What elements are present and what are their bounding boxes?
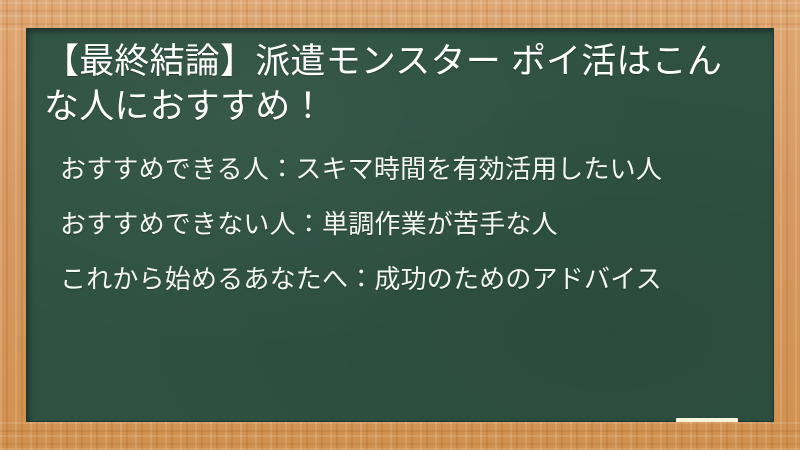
chalkboard-slide: 【最終結論】派遣モンスター ポイ活はこんな人におすすめ！ おすすめできる人：スキ… (0, 0, 800, 450)
bullet-item-3: これから始めるあなたへ：成功のためのアドバイス (44, 262, 756, 297)
bullet-item-1: おすすめできる人：スキマ時間を有効活用したい人 (44, 152, 756, 187)
bullet-item-2: おすすめできない人：単調作業が苦手な人 (44, 207, 756, 242)
slide-title: 【最終結論】派遣モンスター ポイ活はこんな人におすすめ！ (44, 40, 756, 130)
chalk-stick-icon (676, 418, 738, 422)
frame-bottom-rail (0, 422, 800, 450)
chalkboard-surface: 【最終結論】派遣モンスター ポイ活はこんな人におすすめ！ おすすめできる人：スキ… (26, 28, 774, 422)
slide-content: 【最終結論】派遣モンスター ポイ活はこんな人におすすめ！ おすすめできる人：スキ… (26, 28, 774, 422)
frame-top-rail (0, 0, 800, 30)
bullet-list: おすすめできる人：スキマ時間を有効活用したい人 おすすめできない人：単調作業が苦… (44, 152, 756, 298)
